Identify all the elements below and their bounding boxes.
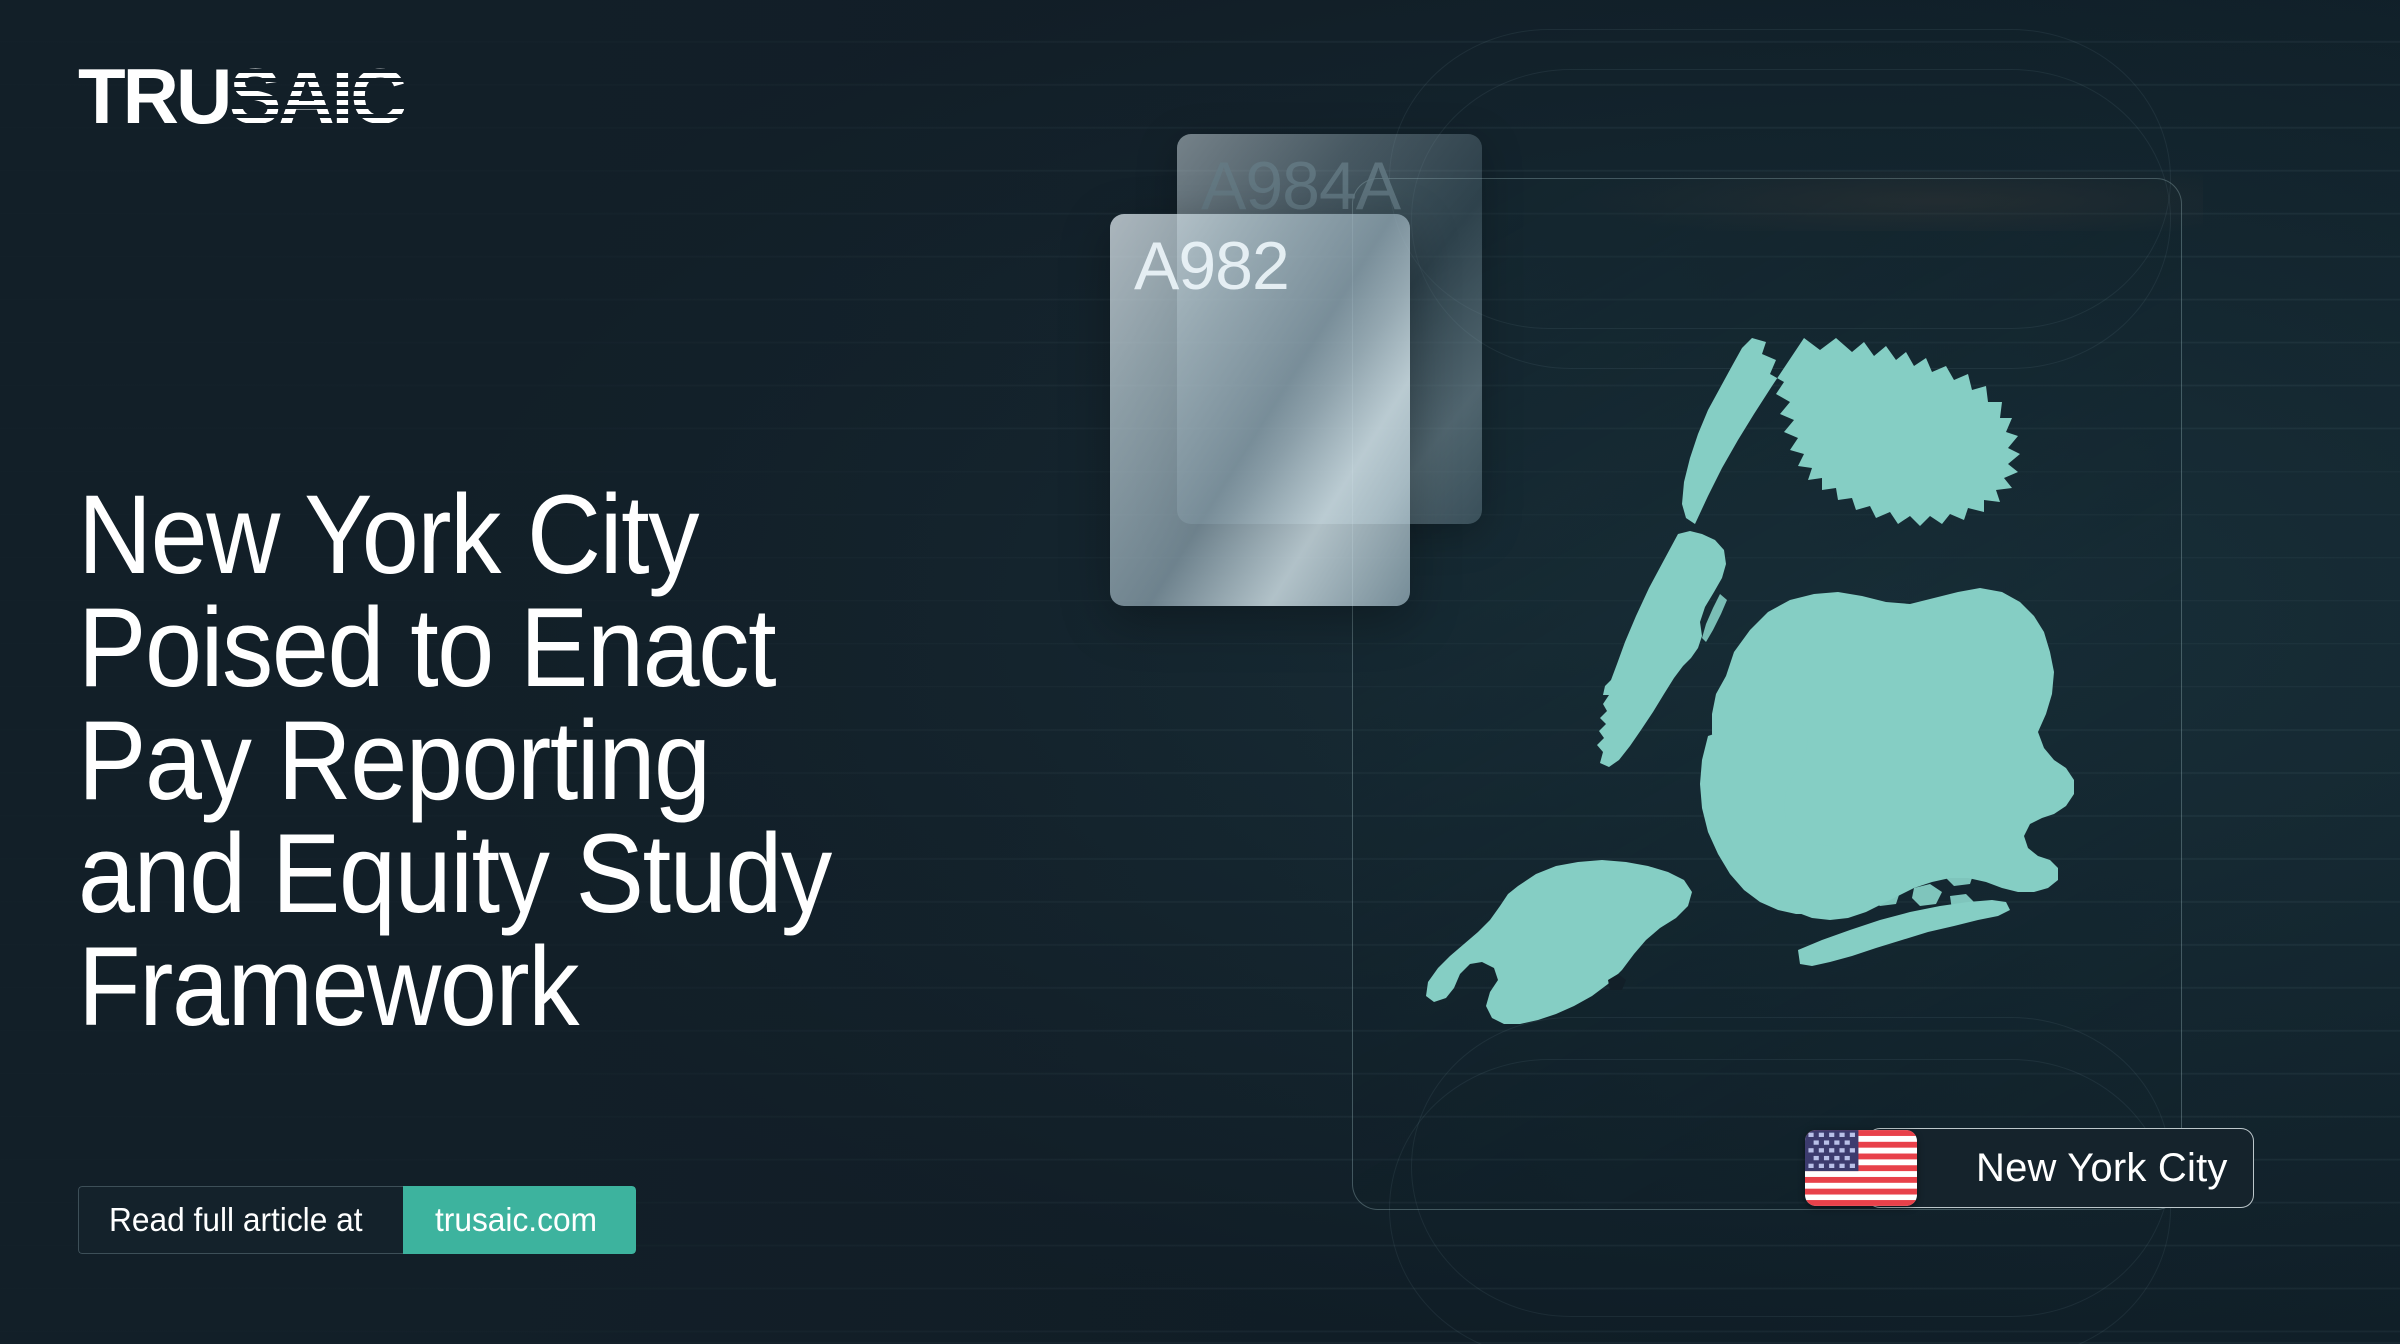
location-badge-label: New York City: [1976, 1146, 2228, 1191]
bill-card-a982[interactable]: A982: [1110, 214, 1410, 606]
headline-line-2: Poised to Enact: [78, 591, 1048, 704]
cta-prefix-label: Read full article at: [109, 1201, 363, 1239]
cta-domain-label: trusaic.com: [435, 1201, 597, 1239]
headline-line-1: New York City: [78, 478, 1048, 591]
us-flag-icon: [1805, 1130, 1917, 1206]
location-badge-pill: New York City: [1867, 1128, 2254, 1208]
bill-card-a982-label: A982: [1134, 232, 1289, 300]
trusaic-logo[interactable]: TRU SAIC: [78, 56, 404, 130]
page-title: New York City Poised to Enact Pay Report…: [78, 478, 1138, 1043]
headline-line-4: and Equity Study: [78, 817, 1048, 930]
cta-domain-button[interactable]: trusaic.com: [403, 1186, 636, 1254]
frame-arc-top-outer: [1389, 29, 2171, 329]
logo-text-tru: TRU: [78, 64, 229, 130]
cta-prefix: Read full article at: [78, 1186, 403, 1254]
new-york-city-map: [1402, 312, 2142, 1052]
read-article-cta[interactable]: Read full article at trusaic.com: [78, 1186, 636, 1254]
logo-text-saic-striped: SAIC: [229, 64, 403, 130]
poster-canvas: TRU SAIC New York City Poised to Enact P…: [0, 0, 2400, 1344]
headline-line-5: Framework: [78, 930, 1048, 1043]
headline-line-3: Pay Reporting: [78, 704, 1048, 817]
bill-card-a984a-label: A984A: [1201, 152, 1400, 220]
